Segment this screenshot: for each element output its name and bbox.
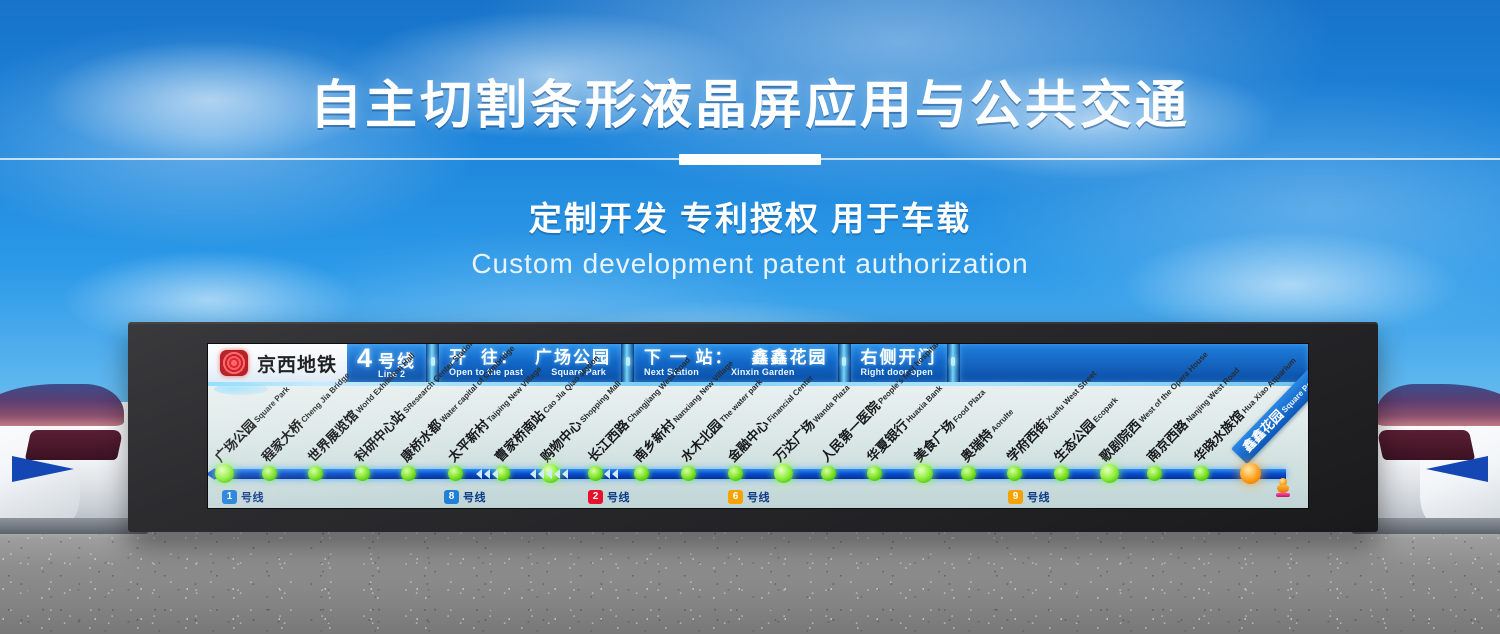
station-name-cn: 学府西街 (1005, 418, 1050, 464)
train-skirt (0, 518, 149, 534)
train-roof (0, 384, 124, 426)
track-node[interactable] (681, 466, 696, 481)
station-name-en: Food Plaza (952, 389, 988, 426)
line-badge[interactable]: 2号线 (588, 489, 630, 505)
line-badge-label: 号线 (463, 489, 486, 505)
station-name-cn: 奥瑞特 (958, 427, 994, 464)
station-name-cn: 程家大桥 (259, 418, 304, 464)
direction-arrows-icon (604, 468, 618, 480)
line-badge-list: 1号线8号线2号线6号线9号线 (208, 485, 1308, 505)
station-name-en: Aorulte (990, 408, 1016, 434)
station-name-cn: 南乡新村 (632, 418, 677, 464)
station-label-list: 广场公园Square Park程家大桥Cheng Jia Bridge世界展览馆… (208, 390, 1308, 464)
cell-separator (621, 344, 634, 382)
subtitle-en: Custom development patent authorization (0, 248, 1500, 280)
station-name-cn: 美食广场 (912, 418, 957, 464)
road-surface (0, 520, 1500, 634)
direction-arrows-icon (476, 468, 498, 480)
line-badge-label: 号线 (1027, 489, 1050, 505)
station-name-cn: 水木北园 (679, 418, 724, 464)
station-name-cn: 华夏银行 (865, 418, 910, 464)
line-badge[interactable]: 1号线 (222, 489, 264, 505)
station-name-en: Square Park (253, 385, 292, 425)
track-rail (214, 469, 1286, 479)
station-name-cn: 歌剧院西 (1098, 418, 1143, 464)
track-node[interactable] (728, 466, 743, 481)
track-node[interactable] (448, 466, 463, 481)
line-badge[interactable]: 8号线 (444, 489, 486, 505)
line-badge-label: 号线 (607, 489, 630, 505)
train-stripe (12, 456, 74, 482)
track-node[interactable] (1100, 464, 1119, 483)
track-node[interactable] (1054, 466, 1069, 481)
track-node[interactable] (588, 466, 603, 481)
track-node[interactable] (355, 466, 370, 481)
next-station-name-cn: 鑫鑫花园 (752, 349, 828, 366)
stretched-bar-lcd-monitor: 京西地铁 4 号线 Line 2 (128, 322, 1378, 532)
station-label[interactable]: 购物中心Shopping Mall (539, 377, 624, 464)
track-node[interactable] (961, 466, 976, 481)
station-name-cn: 南京西路 (1145, 418, 1190, 464)
line-number: 4 (357, 346, 372, 370)
brand-label: 京西地铁 (257, 350, 337, 377)
divider-block (679, 154, 821, 165)
banner: 自主切割条形液晶屏应用与公共交通 定制开发 专利授权 用于车载 Custom d… (0, 0, 1500, 280)
route-map: 广场公园Square Park程家大桥Cheng Jia Bridge世界展览馆… (208, 382, 1308, 508)
track-end-arrow-icon (208, 468, 215, 480)
subtitle-cn: 定制开发 专利授权 用于车载 (0, 192, 1500, 240)
station-name-cn: 万达广场 (772, 418, 817, 464)
line-badge[interactable]: 9号线 (1008, 489, 1050, 505)
track-node-current[interactable] (1240, 463, 1261, 484)
track-node[interactable] (1194, 466, 1209, 481)
station-name-en: Ecopark (1092, 396, 1120, 425)
station-name-cn: 太平新村 (446, 418, 491, 464)
brand-area: 京西地铁 (208, 344, 347, 382)
track-node[interactable] (774, 464, 793, 483)
metro-logo-icon (220, 350, 248, 376)
train-roof (1376, 384, 1500, 426)
station-name-cn: 购物中心 (539, 418, 584, 464)
route-track (208, 466, 1308, 482)
station-name-en: Huaxia Bank (905, 384, 945, 425)
station-name-en: Wanda Plaza (812, 384, 852, 425)
station-name-cn: 长江西路 (585, 418, 630, 464)
track-node[interactable] (262, 466, 277, 481)
line-badge-number: 9 (1008, 490, 1023, 504)
station-name-cn: 生态公园 (1051, 418, 1096, 464)
screenshot-stage: 自主切割条形液晶屏应用与公共交通 定制开发 专利授权 用于车载 Custom d… (0, 0, 1500, 634)
station-label[interactable]: 水木北园The water park (679, 375, 765, 464)
station-name-en: Shopping Mall (579, 380, 623, 426)
line-badge-label: 号线 (241, 489, 264, 505)
line-badge-number: 1 (222, 490, 237, 504)
line-badge-number: 2 (588, 490, 603, 504)
line-badge[interactable]: 6号线 (728, 489, 770, 505)
cell-separator (947, 344, 960, 382)
track-node[interactable] (821, 466, 836, 481)
direction-arrows-icon (530, 468, 568, 480)
track-node[interactable] (1147, 466, 1162, 481)
track-node[interactable] (215, 464, 234, 483)
line-badge-label: 号线 (747, 489, 770, 505)
cell-separator (838, 344, 851, 382)
station-name-cn: 金融中心 (725, 418, 770, 464)
lcd-screen: 京西地铁 4 号线 Line 2 (208, 344, 1308, 508)
display-header: 京西地铁 4 号线 Line 2 (208, 344, 1308, 382)
next-station-name-en: Xinxin Garden (731, 368, 795, 377)
station-name-cn: 广场公园 (213, 418, 258, 464)
header-filler (960, 344, 1309, 382)
page-title: 自主切割条形液晶屏应用与公共交通 (0, 80, 1500, 132)
station-name-cn: 康桥水都 (399, 418, 444, 464)
train-stripe (1426, 456, 1488, 482)
line-badge-number: 8 (444, 490, 459, 504)
line-badge-number: 6 (728, 490, 743, 504)
track-node[interactable] (914, 464, 933, 483)
divider (0, 154, 1500, 164)
